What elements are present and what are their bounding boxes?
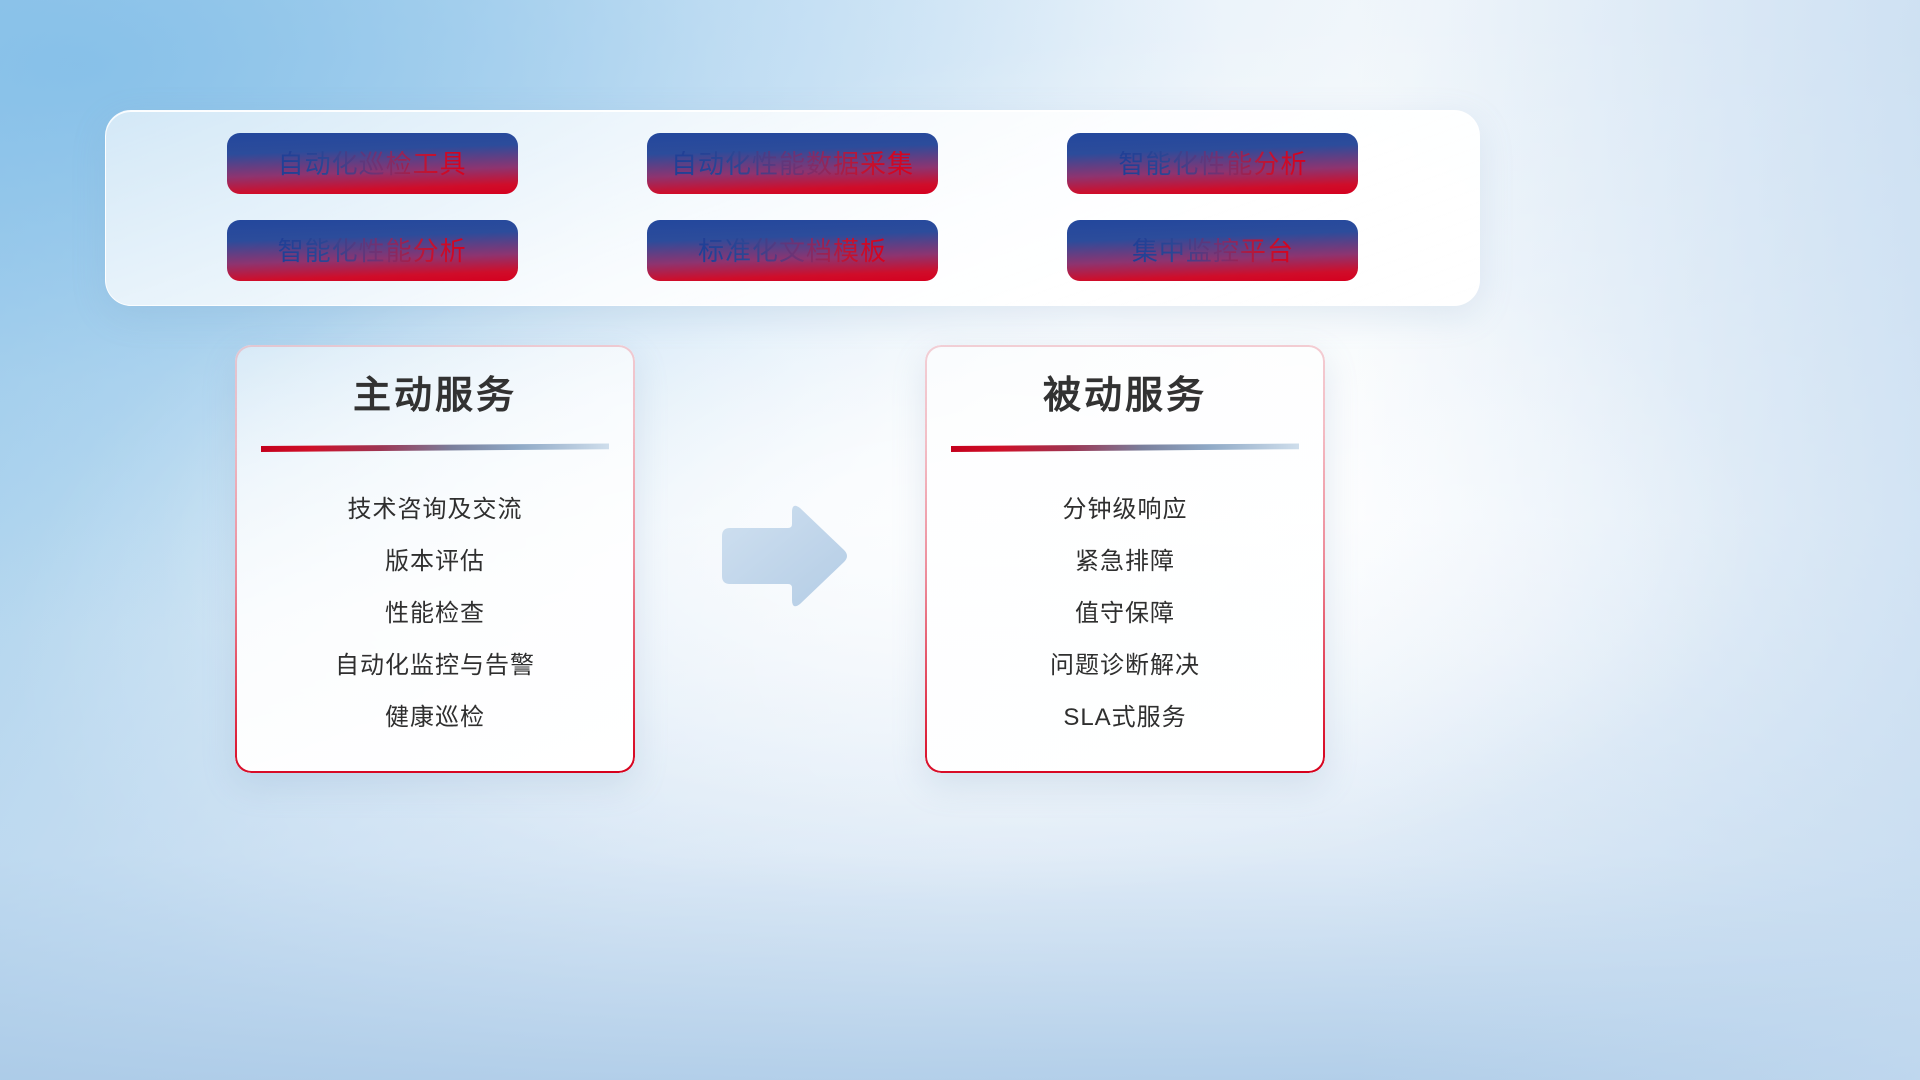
service-item: 自动化监控与告警: [235, 640, 635, 692]
capability-panel: 自动化巡检工具 自动化性能数据采集 智能化性能分析 智能化性能分析 标准化文档模…: [105, 110, 1480, 306]
service-item: 技术咨询及交流: [235, 484, 635, 536]
capability-pill[interactable]: 智能化性能分析: [1067, 133, 1358, 194]
capability-pill-label: 自动化性能数据采集: [671, 151, 914, 177]
arrow-right-icon: [714, 500, 850, 612]
card-title: 主动服务: [235, 377, 635, 415]
capability-pill[interactable]: 自动化巡检工具: [227, 133, 518, 194]
service-item: 问题诊断解决: [925, 640, 1325, 692]
card-title-divider: [261, 443, 609, 452]
card-title-divider: [951, 443, 1299, 452]
capability-pill-grid: 自动化巡检工具 自动化性能数据采集 智能化性能分析 智能化性能分析 标准化文档模…: [106, 111, 1479, 305]
service-item: SLA式服务: [925, 692, 1325, 744]
service-item: 值守保障: [925, 588, 1325, 640]
service-item-list: 技术咨询及交流 版本评估 性能检查 自动化监控与告警 健康巡检: [235, 484, 635, 744]
capability-pill[interactable]: 自动化性能数据采集: [647, 133, 938, 194]
capability-pill-label: 智能化性能分析: [278, 238, 467, 264]
capability-pill-label: 智能化性能分析: [1118, 151, 1307, 177]
service-item: 健康巡检: [235, 692, 635, 744]
service-card-passive: 被动服务 分钟级响应 紧急排障 值守保障 问题诊断解决 SLA式服务: [925, 345, 1325, 773]
service-item: 分钟级响应: [925, 484, 1325, 536]
capability-pill-label: 标准化文档模板: [698, 238, 887, 264]
capability-pill-label: 自动化巡检工具: [278, 151, 467, 177]
card-title: 被动服务: [925, 377, 1325, 415]
service-item-list: 分钟级响应 紧急排障 值守保障 问题诊断解决 SLA式服务: [925, 484, 1325, 744]
service-item: 性能检查: [235, 588, 635, 640]
capability-pill[interactable]: 标准化文档模板: [647, 220, 938, 281]
capability-pill-label: 集中监控平台: [1132, 238, 1294, 264]
capability-pill[interactable]: 集中监控平台: [1067, 220, 1358, 281]
capability-pill[interactable]: 智能化性能分析: [227, 220, 518, 281]
service-item: 版本评估: [235, 536, 635, 588]
service-card-active: 主动服务 技术咨询及交流 版本评估 性能检查 自动化监控与告警 健康巡检: [235, 345, 635, 773]
service-item: 紧急排障: [925, 536, 1325, 588]
